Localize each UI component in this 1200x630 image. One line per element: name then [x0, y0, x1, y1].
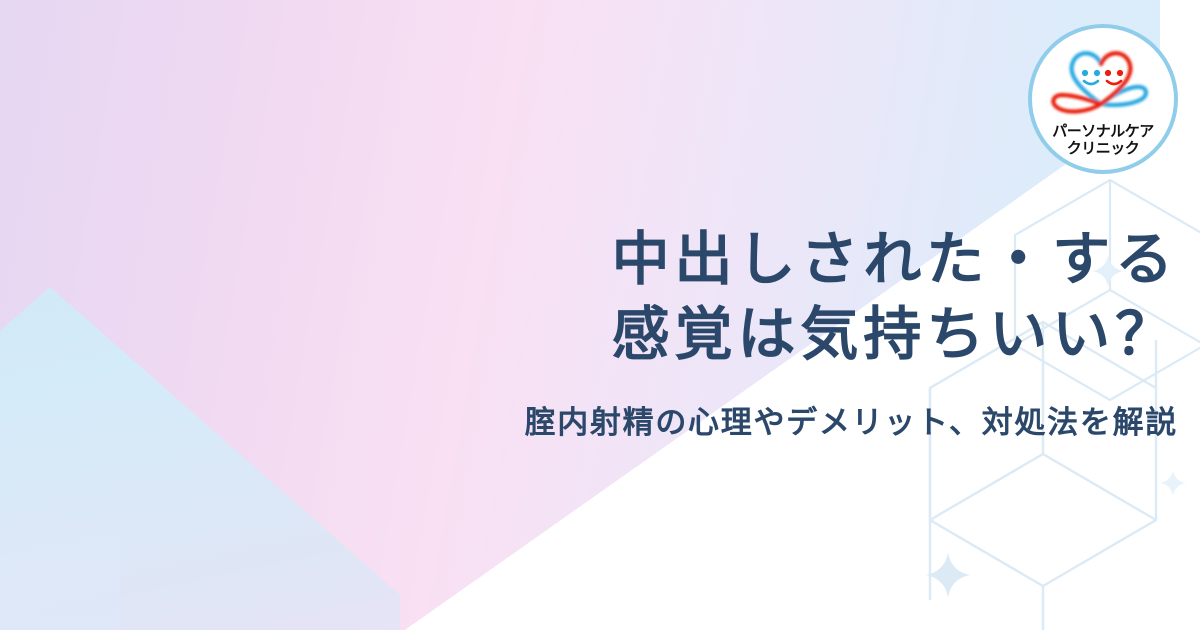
- logo-text-line2: クリニック: [1052, 141, 1154, 157]
- logo-text-line1: パーソナルケア: [1052, 124, 1154, 140]
- heart-faces-icon: [1044, 38, 1162, 124]
- background-bottom-left-wash: [0, 480, 120, 630]
- page-title: 中出しされた・する 感覚は気持ちいい？: [0, 222, 1178, 373]
- logo-text: パーソナルケア クリニック: [1052, 124, 1154, 157]
- page-subtitle: 腟内射精の心理やデメリット、対処法を解説: [0, 403, 1178, 443]
- page-title-line1: 中出しされた・する: [0, 222, 1178, 297]
- page-title-line2: 感覚は気持ちいい？: [0, 297, 1178, 372]
- ogp-banner: パーソナルケア クリニック 中出しされた・する 感覚は気持ちいい？ 腟内射精の心…: [0, 0, 1200, 630]
- clinic-logo-badge[interactable]: パーソナルケア クリニック: [1028, 24, 1178, 174]
- text-block: 中出しされた・する 感覚は気持ちいい？ 腟内射精の心理やデメリット、対処法を解説: [0, 222, 1200, 443]
